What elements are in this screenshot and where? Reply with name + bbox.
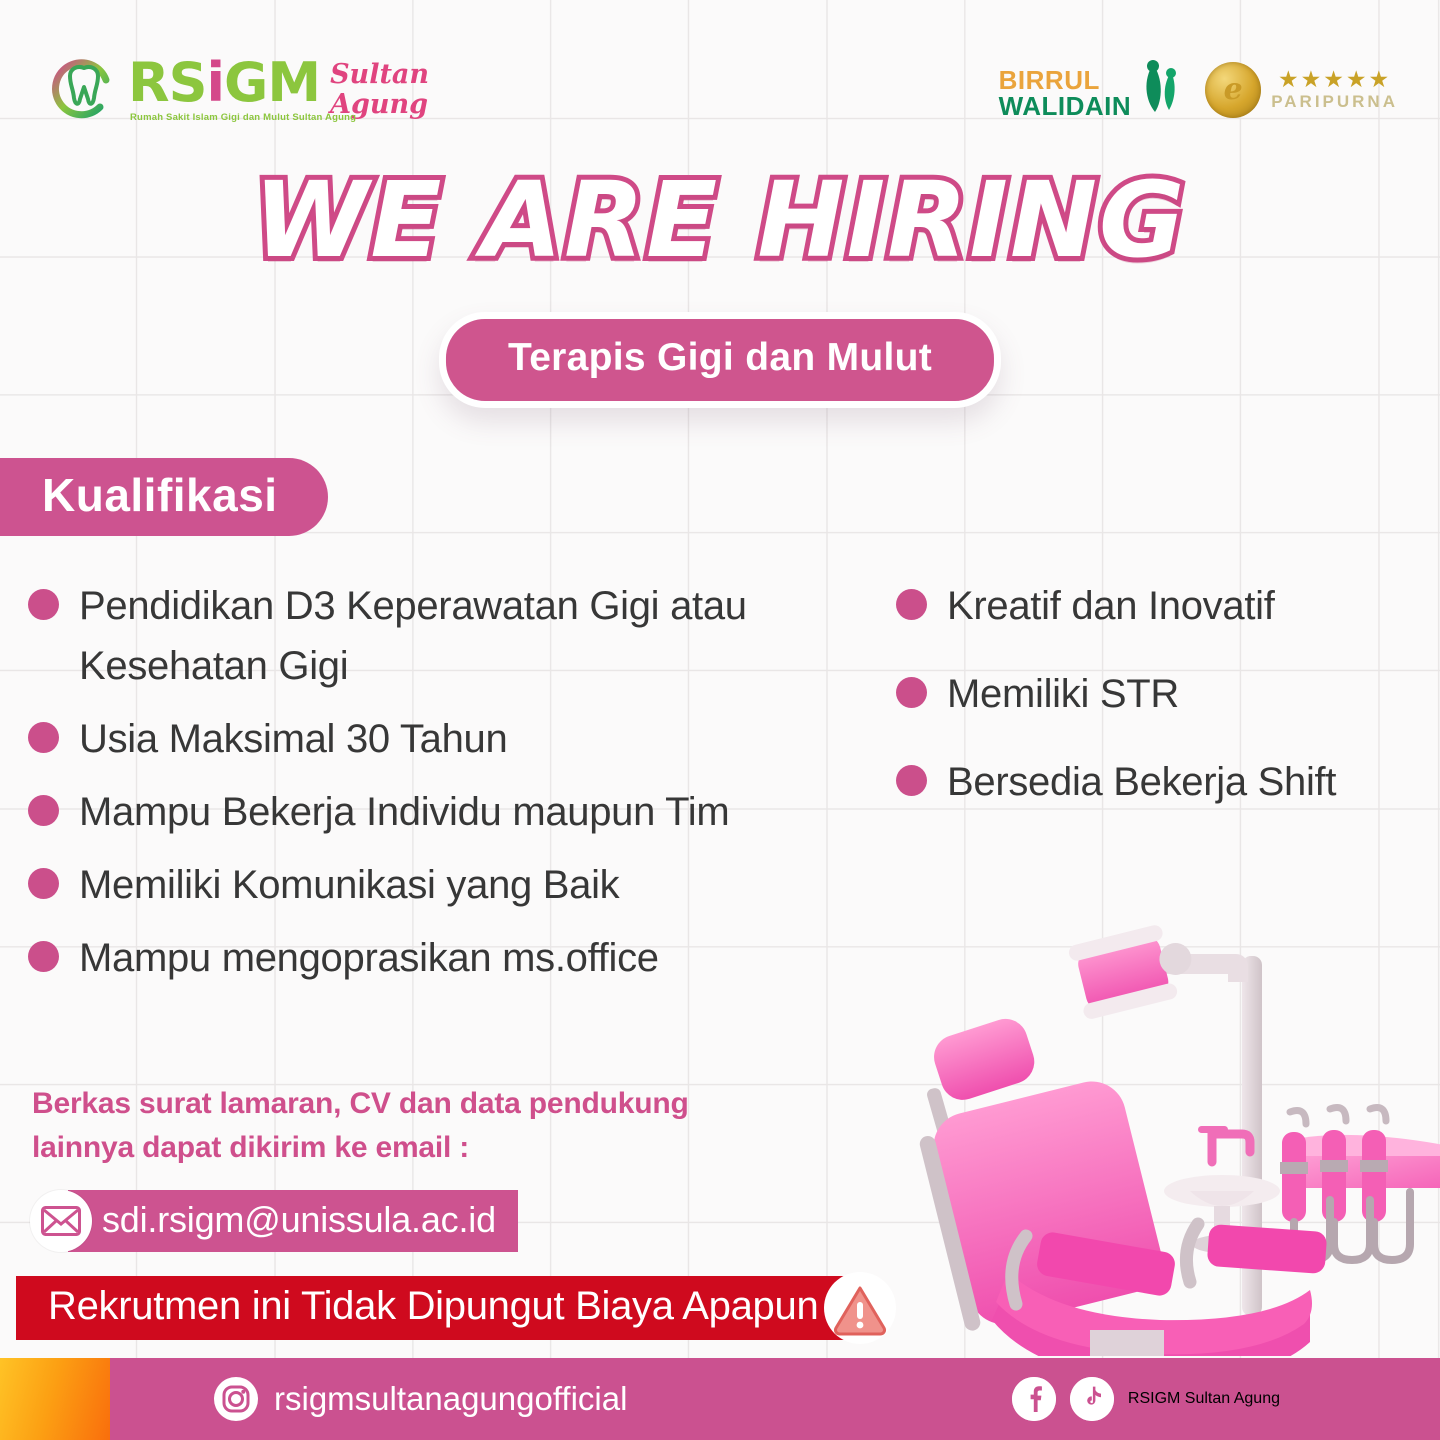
birrul-line1: BIRRUL bbox=[999, 67, 1132, 93]
logo-wordmark: RSiGM Rumah Sakit Islam Gigi dan Mulut S… bbox=[128, 56, 429, 120]
email-contact[interactable]: sdi.rsigm@unissula.ac.id bbox=[30, 1190, 518, 1252]
bullet-dot-icon bbox=[28, 868, 59, 899]
paripurna-label: PARIPURNA bbox=[1271, 92, 1398, 112]
list-item-label: Pendidikan D3 Keperawatan Gigi atau Kese… bbox=[79, 576, 908, 696]
list-item-label: Bersedia Bekerja Shift bbox=[947, 752, 1336, 812]
birrul-walidain-badge: BIRRUL WALIDAIN bbox=[999, 60, 1180, 119]
role-badge: Terapis Gigi dan Mulut bbox=[439, 312, 1001, 408]
list-item-label: Mampu mengoprasikan ms.office bbox=[79, 928, 659, 988]
list-item-label: Mampu Bekerja Individu maupun Tim bbox=[79, 782, 729, 842]
list-item-label: Memiliki Komunikasi yang Baik bbox=[79, 855, 619, 915]
page-title: WE ARE HIRING bbox=[0, 168, 1440, 272]
paripurna-badge: e ★★★★★ PARIPURNA bbox=[1205, 62, 1398, 118]
warning-triangle-icon bbox=[824, 1272, 896, 1344]
instagram-link[interactable]: rsigmsultanagungofficial bbox=[214, 1377, 627, 1421]
list-item-label: Memiliki STR bbox=[947, 664, 1179, 724]
list-item: Usia Maksimal 30 Tahun bbox=[28, 709, 908, 769]
list-item: Bersedia Bekerja Shift bbox=[896, 752, 1436, 812]
recruitment-poster: RSiGM Rumah Sakit Islam Gigi dan Mulut S… bbox=[0, 0, 1440, 1440]
dental-chair-illustration bbox=[890, 916, 1440, 1356]
bullet-dot-icon bbox=[28, 589, 59, 620]
bullet-dot-icon bbox=[28, 795, 59, 826]
list-item-label: Usia Maksimal 30 Tahun bbox=[79, 709, 507, 769]
facebook-icon[interactable] bbox=[1012, 1377, 1056, 1421]
bullet-dot-icon bbox=[28, 941, 59, 972]
gold-medal-icon: e bbox=[1205, 62, 1261, 118]
list-item: Pendidikan D3 Keperawatan Gigi atau Kese… bbox=[28, 576, 908, 696]
email-address[interactable]: sdi.rsigm@unissula.ac.id bbox=[68, 1190, 518, 1252]
social-links[interactable]: RSIGM Sultan Agung bbox=[1012, 1377, 1280, 1421]
logo-subtitle: Sultan Agung bbox=[330, 60, 429, 120]
tiktok-icon[interactable] bbox=[1070, 1377, 1114, 1421]
leaf-icon bbox=[1135, 60, 1179, 119]
qualifications-left-column: Pendidikan D3 Keperawatan Gigi atau Kese… bbox=[28, 576, 908, 1001]
list-item: Memiliki STR bbox=[896, 664, 1436, 724]
star-rating-icon: ★★★★★ bbox=[1278, 68, 1391, 91]
bullet-dot-icon bbox=[896, 589, 927, 620]
no-fee-warning: Rekrutmen ini Tidak Dipungut Biaya Apapu… bbox=[16, 1272, 896, 1344]
list-item: Memiliki Komunikasi yang Baik bbox=[28, 855, 908, 915]
no-fee-warning-label: Rekrutmen ini Tidak Dipungut Biaya Apapu… bbox=[16, 1276, 868, 1340]
logo-tagline: Rumah Sakit Islam Gigi dan Mulut Sultan … bbox=[130, 112, 356, 123]
envelope-icon bbox=[30, 1190, 92, 1252]
list-item: Kreatif dan Inovatif bbox=[896, 576, 1436, 636]
social-account-name: RSIGM Sultan Agung bbox=[1128, 1390, 1280, 1408]
footer-orange-accent bbox=[0, 1358, 110, 1440]
instagram-handle: rsigmsultanagungofficial bbox=[274, 1380, 627, 1418]
apply-instructions-line2: lainnya dapat dikirim ke email : bbox=[32, 1126, 689, 1170]
apply-instructions: Berkas surat lamaran, CV dan data penduk… bbox=[32, 1082, 689, 1170]
apply-instructions-line1: Berkas surat lamaran, CV dan data penduk… bbox=[32, 1082, 689, 1126]
logo-name: RSiGM bbox=[128, 56, 320, 110]
birrul-line2: WALIDAIN bbox=[999, 93, 1132, 119]
qualifications-right-column: Kreatif dan Inovatif Memiliki STR Bersed… bbox=[896, 576, 1436, 840]
list-item: Mampu Bekerja Individu maupun Tim bbox=[28, 782, 908, 842]
list-item-label: Kreatif dan Inovatif bbox=[947, 576, 1275, 636]
tooth-circle-logo-icon bbox=[48, 52, 120, 124]
bullet-dot-icon bbox=[896, 677, 927, 708]
section-heading-kualifikasi: Kualifikasi bbox=[0, 458, 328, 536]
rsigm-logo: RSiGM Rumah Sakit Islam Gigi dan Mulut S… bbox=[48, 52, 429, 124]
instagram-icon bbox=[214, 1377, 258, 1421]
footer-bar: rsigmsultanagungofficial RSIGM Sultan Ag… bbox=[0, 1358, 1440, 1440]
list-item: Mampu mengoprasikan ms.office bbox=[28, 928, 908, 988]
bullet-dot-icon bbox=[896, 765, 927, 796]
bullet-dot-icon bbox=[28, 722, 59, 753]
accreditation-badges: BIRRUL WALIDAIN e ★★★★★ PARIPURNA bbox=[999, 60, 1398, 119]
